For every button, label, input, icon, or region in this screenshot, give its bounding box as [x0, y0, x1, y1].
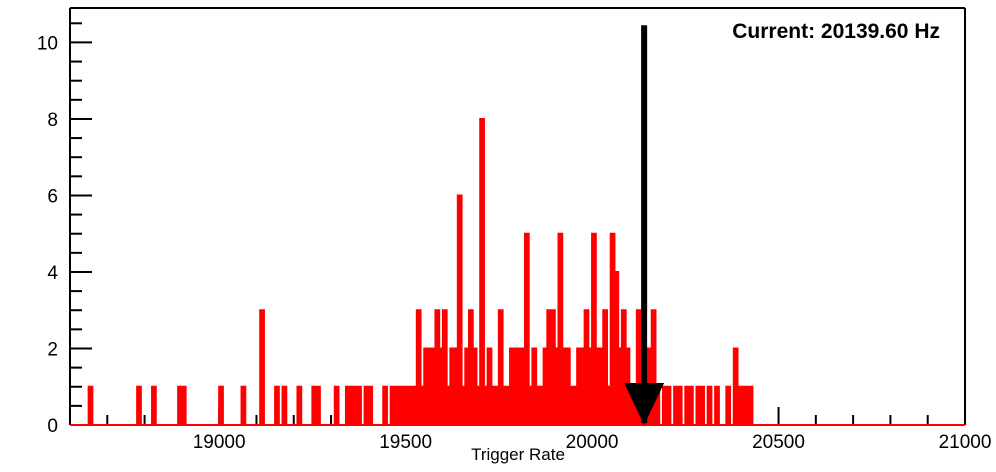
x-tick-label: 20500 [752, 432, 805, 453]
y-tick-label: 2 [47, 339, 58, 360]
y-tick-label: 6 [47, 186, 58, 207]
y-tick-label: 10 [37, 33, 58, 54]
y-axis-tick-labels: 0246810 [37, 33, 59, 437]
x-tick-label: 19500 [379, 432, 432, 453]
root-canvas: 0246810 1900019500200002050021000 Trigge… [0, 0, 996, 472]
trigger-rate-histogram: 0246810 1900019500200002050021000 Trigge… [0, 0, 996, 472]
histogram-outline [89, 119, 757, 425]
y-tick-label: 4 [47, 263, 58, 284]
x-tick-label: 21000 [939, 432, 992, 453]
x-tick-label: 20000 [566, 432, 619, 453]
y-axis-ticks [70, 23, 92, 425]
y-tick-label: 8 [47, 110, 58, 131]
x-axis-title: Trigger Rate [471, 445, 565, 464]
histogram-series [70, 119, 965, 425]
x-axis-tick-labels: 1900019500200002050021000 [193, 432, 992, 453]
current-rate-label: Current: 20139.60 Hz [732, 20, 940, 43]
x-tick-label: 19000 [193, 432, 246, 453]
y-tick-label: 0 [47, 416, 58, 437]
